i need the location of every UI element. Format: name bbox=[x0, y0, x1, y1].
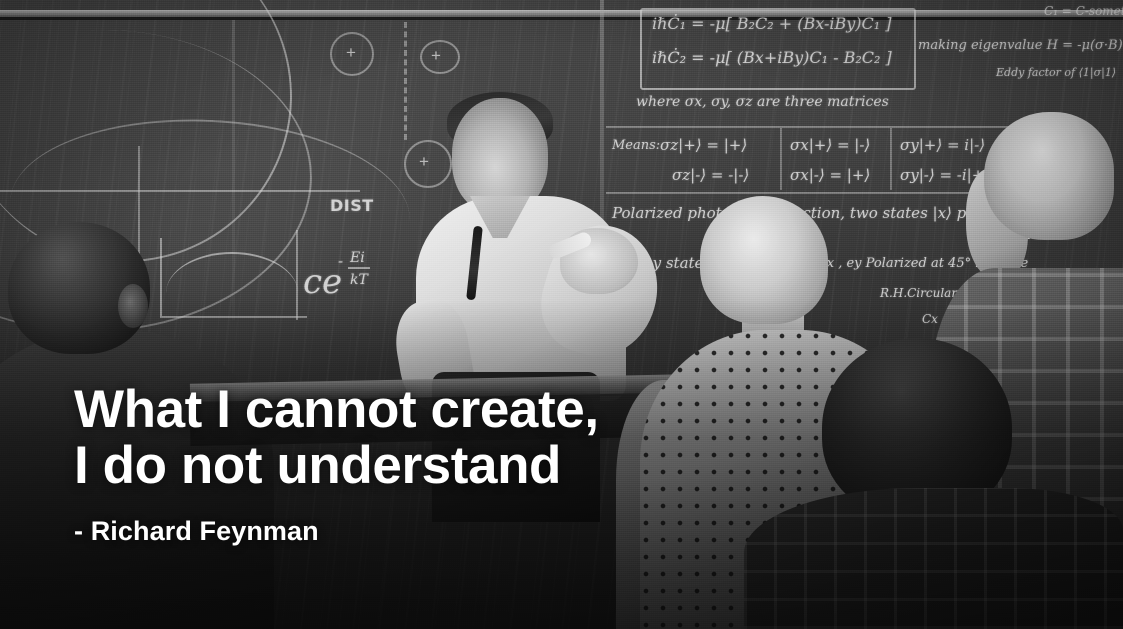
quote-block: What I cannot create, I do not understan… bbox=[74, 382, 774, 547]
quote-line-1: What I cannot create, bbox=[74, 382, 774, 438]
quote-line-2: I do not understand bbox=[74, 438, 774, 494]
quote-card: + + + + DIST ce - Ei kT iℏĊ₁ = -μ[ B₂C₂ … bbox=[0, 0, 1123, 629]
quote-attribution: - Richard Feynman bbox=[74, 516, 774, 547]
